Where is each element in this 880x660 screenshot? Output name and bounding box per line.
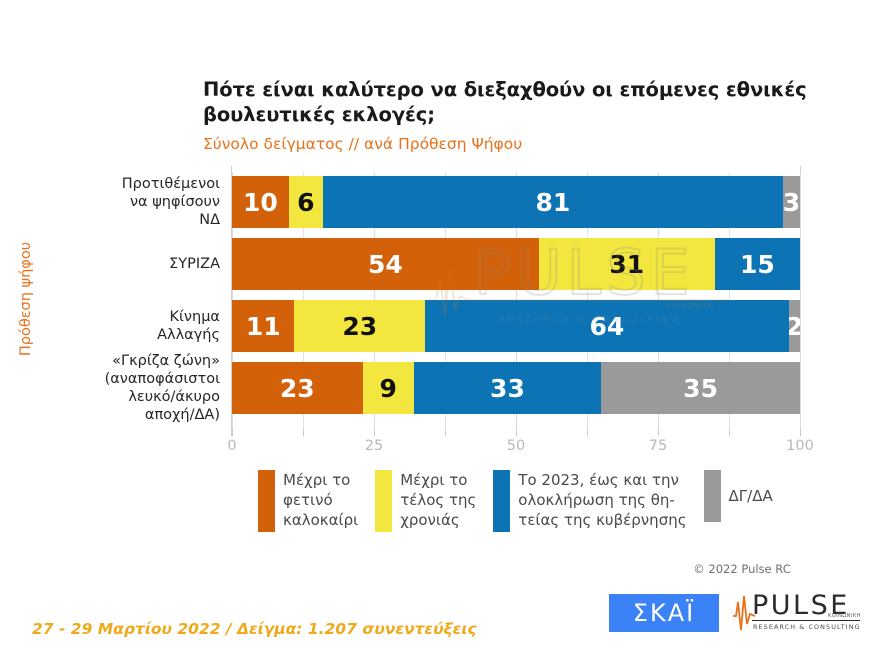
legend-label: Μέχρι το φετινό καλοκαίρι (283, 470, 358, 530)
legend-item[interactable]: Το 2023, έως και την ολοκλήρωση της θη- … (493, 470, 686, 532)
chart-subtitle: Σύνολο δείγματος // ανά Πρόθεση Ψήφου (203, 135, 823, 154)
chart-legend: Μέχρι το φετινό καλοκαίριΜέχρι το τέλος … (258, 470, 773, 532)
x-tick-label: 0 (227, 438, 236, 454)
bar-segment: 6 (289, 176, 323, 228)
x-tick-mark (445, 430, 446, 436)
x-tick-label: 50 (507, 438, 525, 454)
x-tick-mark (587, 430, 588, 436)
x-tick-mark (800, 430, 801, 436)
legend-swatch (493, 470, 510, 532)
bar-segment: 23 (232, 362, 363, 414)
bar-segment: 3 (783, 176, 800, 228)
category-label: Προτιθέμενοινα ψηφίσουνΝΔ (70, 175, 220, 229)
legend-label: Το 2023, έως και την ολοκλήρωση της θη- … (518, 470, 686, 530)
bar-segment: 2 (789, 300, 800, 352)
bar-segment: 33 (414, 362, 601, 414)
pulse-logo-rule (752, 620, 860, 621)
category-label: «Γκρίζα ζώνη»(αναποφάσιστοιλευκό/άκυροαπ… (70, 352, 220, 425)
bar-segment: 15 (715, 238, 800, 290)
x-axis: 0255075100 (232, 430, 800, 458)
category-label: ΚίνημαΑλλαγής (70, 308, 220, 344)
skai-logo-text: ΣΚΑΪ (633, 599, 695, 627)
category-labels: Προτιθέμενοινα ψηφίσουνΝΔΣΥΡΙΖΑΚίνημαΑλλ… (62, 172, 220, 430)
copyright-text: © 2022 Pulse RC (693, 562, 790, 576)
bar-row: 2393335 (232, 362, 800, 414)
pulse-logo-subtitle: RESEARCH & CONSULTING (753, 623, 861, 631)
chart-root: Πότε είναι καλύτερο να διεξαχθούν οι επό… (0, 0, 880, 660)
bar-segment: 35 (601, 362, 800, 414)
pulse-logo: PULSE ΚΟΙΝΩΝΙΚΗ RESEARCH & CONSULTING (733, 592, 863, 634)
page-title: Πότε είναι καλύτερο να διεξαχθούν οι επό… (203, 78, 823, 128)
legend-label: Μέχρι το τέλος της χρονιάς (400, 470, 476, 530)
x-tick-label: 75 (649, 438, 667, 454)
pulse-logo-tag: ΚΟΙΝΩΝΙΚΗ (828, 613, 861, 619)
bar-row: 106813 (232, 176, 800, 228)
title-block: Πότε είναι καλύτερο να διεξαχθούν οι επό… (203, 78, 823, 154)
legend-label: ΔΓ/ΔΑ (729, 470, 773, 507)
legend-swatch (258, 470, 275, 532)
x-tick-label: 25 (365, 438, 383, 454)
x-tick-mark (232, 430, 233, 436)
x-tick-mark (658, 430, 659, 436)
legend-item[interactable]: ΔΓ/ΔΑ (704, 470, 773, 522)
bar-segment: 54 (232, 238, 539, 290)
bar-row: 1123642 (232, 300, 800, 352)
bar-segment: 81 (323, 176, 783, 228)
legend-swatch (375, 470, 392, 532)
x-tick-mark (303, 430, 304, 436)
plot-area: 10681354311511236422393335 (232, 172, 800, 430)
bar-segment: 11 (232, 300, 294, 352)
bar-segment: 64 (425, 300, 789, 352)
legend-item[interactable]: Μέχρι το φετινό καλοκαίρι (258, 470, 358, 532)
y-axis-title: Πρόθεση ψήφου (18, 229, 40, 369)
bar-segment: 23 (294, 300, 425, 352)
x-tick-mark (729, 430, 730, 436)
x-tick-mark (516, 430, 517, 436)
skai-logo: ΣΚΑΪ (609, 594, 719, 632)
bar-segment: 31 (539, 238, 715, 290)
bar-row: 543115 (232, 238, 800, 290)
legend-item[interactable]: Μέχρι το τέλος της χρονιάς (375, 470, 476, 532)
axis-line-right (800, 166, 801, 436)
category-label: ΣΥΡΙΖΑ (70, 255, 220, 273)
bar-segment: 10 (232, 176, 289, 228)
survey-date-text: 27 - 29 Μαρτίου 2022 / Δείγμα: 1.207 συν… (32, 620, 477, 638)
x-tick-mark (374, 430, 375, 436)
legend-swatch (704, 470, 721, 522)
bar-segment: 9 (363, 362, 414, 414)
x-tick-label: 100 (786, 438, 814, 454)
